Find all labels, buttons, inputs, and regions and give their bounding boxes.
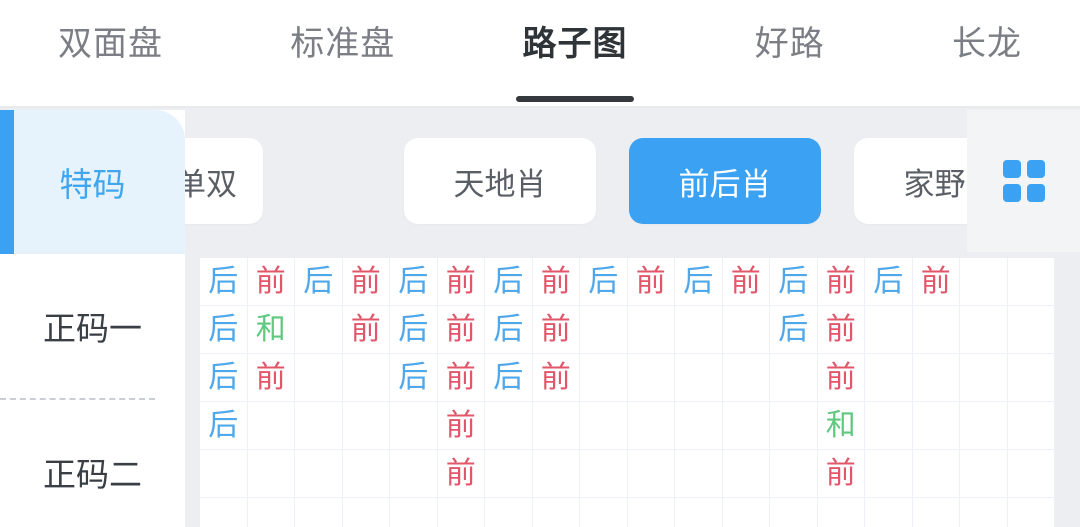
roadmap-cell-empty bbox=[343, 402, 391, 450]
roadmap-cell-empty bbox=[200, 498, 248, 527]
roadmap-cell-qian: 前 bbox=[533, 306, 581, 354]
roadmap-cell-empty bbox=[343, 498, 391, 527]
roadmap-screen: 双面盘 标准盘 路子图 好路 长龙 单双 天地肖 bbox=[0, 0, 1080, 527]
roadmap-cell-empty bbox=[1008, 498, 1056, 527]
roadmap-cell-empty bbox=[1008, 354, 1056, 402]
sidebar-item-label: 正码一 bbox=[43, 302, 142, 350]
roadmap-cell-empty bbox=[343, 450, 391, 498]
roadmap-cell-empty bbox=[770, 450, 818, 498]
roadmap-cell-empty bbox=[865, 354, 913, 402]
roadmap-row: 后前后前后前前 bbox=[200, 354, 1055, 402]
grid-square bbox=[1003, 160, 1021, 178]
sidebar-item-tema[interactable]: 特码 bbox=[0, 110, 185, 254]
roadmap-cell-empty bbox=[960, 402, 1008, 450]
roadmap-cell-empty bbox=[770, 402, 818, 450]
roadmap-cell-qian: 前 bbox=[913, 258, 961, 306]
roadmap-cell-hou: 后 bbox=[200, 306, 248, 354]
roadmap-cell-empty bbox=[723, 402, 771, 450]
roadmap-cell-empty bbox=[295, 354, 343, 402]
roadmap-row bbox=[200, 498, 1055, 527]
roadmap-cell-empty bbox=[865, 306, 913, 354]
roadmap-cell-empty bbox=[533, 498, 581, 527]
tab-luzitu[interactable]: 路子图 bbox=[523, 0, 628, 106]
roadmap-cell-qian: 前 bbox=[438, 354, 486, 402]
grid-square bbox=[1027, 184, 1045, 202]
roadmap-cell-empty bbox=[580, 354, 628, 402]
roadmap-cell-empty bbox=[628, 450, 676, 498]
roadmap-cell-qian: 前 bbox=[628, 258, 676, 306]
roadmap-cell-empty bbox=[913, 354, 961, 402]
grid-view-toggle-button[interactable] bbox=[967, 110, 1080, 252]
roadmap-cell-qian: 前 bbox=[248, 258, 296, 306]
roadmap-cell-empty bbox=[770, 498, 818, 527]
roadmap-cell-empty bbox=[818, 498, 866, 527]
filter-chip-label: 天地肖 bbox=[454, 159, 547, 204]
roadmap-cell-empty bbox=[960, 306, 1008, 354]
roadmap-cell-empty bbox=[390, 402, 438, 450]
roadmap-cell-qian: 前 bbox=[818, 354, 866, 402]
roadmap-cell-empty bbox=[485, 498, 533, 527]
tab-label: 长龙 bbox=[952, 22, 1022, 66]
roadmap-cell-qian: 前 bbox=[438, 450, 486, 498]
tab-underline bbox=[516, 96, 634, 102]
roadmap-cell-empty bbox=[628, 498, 676, 527]
roadmap-cell-hou: 后 bbox=[770, 258, 818, 306]
roadmap-cell-hou: 后 bbox=[865, 258, 913, 306]
roadmap-cell-empty bbox=[628, 402, 676, 450]
roadmap-cell-empty bbox=[1008, 258, 1056, 306]
roadmap-cell-empty bbox=[295, 402, 343, 450]
roadmap-cell-hou: 后 bbox=[580, 258, 628, 306]
roadmap-cell-empty bbox=[723, 306, 771, 354]
roadmap-cell-qian: 前 bbox=[343, 258, 391, 306]
sidebar-item-label: 特码 bbox=[60, 158, 126, 206]
roadmap-cell-qian: 前 bbox=[438, 258, 486, 306]
roadmap-cell-empty bbox=[485, 450, 533, 498]
roadmap-cell-empty bbox=[580, 402, 628, 450]
roadmap-row: 后前和 bbox=[200, 402, 1055, 450]
roadmap-cell-empty bbox=[390, 498, 438, 527]
roadmap-cell-empty bbox=[960, 354, 1008, 402]
roadmap-cell-hou: 后 bbox=[295, 258, 343, 306]
roadmap-cell-empty bbox=[533, 450, 581, 498]
roadmap-cell-empty bbox=[770, 354, 818, 402]
roadmap-cell-empty bbox=[865, 402, 913, 450]
filter-chip-qianhouxiao[interactable]: 前后肖 bbox=[629, 138, 821, 224]
roadmap-row: 后前后前后前后前后前后前后前后前 bbox=[200, 258, 1055, 306]
roadmap-cell-hou: 后 bbox=[390, 354, 438, 402]
roadmap-cell-qian: 前 bbox=[533, 258, 581, 306]
roadmap-cell-hou: 后 bbox=[770, 306, 818, 354]
roadmap-cell-empty bbox=[865, 450, 913, 498]
sidebar-item-zhengma-er[interactable]: 正码二 bbox=[0, 400, 185, 527]
roadmap-cell-empty bbox=[723, 450, 771, 498]
roadmap-cell-qian: 前 bbox=[438, 402, 486, 450]
grid-square bbox=[1027, 160, 1045, 178]
roadmap-cell-qian: 前 bbox=[818, 258, 866, 306]
roadmap-cell-empty bbox=[960, 498, 1008, 527]
roadmap-cell-hou: 后 bbox=[390, 258, 438, 306]
roadmap-cell-qian: 前 bbox=[723, 258, 771, 306]
roadmap-cell-hou: 后 bbox=[200, 354, 248, 402]
roadmap-cell-qian: 前 bbox=[818, 450, 866, 498]
sidebar-item-label: 正码二 bbox=[43, 448, 142, 496]
roadmap-cell-hou: 后 bbox=[200, 402, 248, 450]
roadmap-cell-empty bbox=[960, 258, 1008, 306]
roadmap-cell-qian: 前 bbox=[248, 354, 296, 402]
roadmap-cell-empty bbox=[438, 498, 486, 527]
roadmap-cell-empty bbox=[675, 354, 723, 402]
roadmap-cell-empty bbox=[580, 450, 628, 498]
roadmap-cell-empty bbox=[248, 450, 296, 498]
roadmap-cell-empty bbox=[913, 450, 961, 498]
roadmap-cell-empty bbox=[675, 498, 723, 527]
tab-label: 路子图 bbox=[523, 22, 628, 66]
tab-biaozhunpan[interactable]: 标准盘 bbox=[290, 0, 395, 106]
roadmap-cell-empty bbox=[723, 354, 771, 402]
roadmap-cell-empty bbox=[580, 306, 628, 354]
roadmap-cell-empty bbox=[200, 450, 248, 498]
roadmap-cell-empty bbox=[485, 402, 533, 450]
grid-square bbox=[1003, 184, 1021, 202]
roadmap-cell-empty bbox=[913, 402, 961, 450]
roadmap-cell-empty bbox=[913, 498, 961, 527]
roadmap-cell-he: 和 bbox=[248, 306, 296, 354]
roadmap-row: 前前 bbox=[200, 450, 1055, 498]
tab-haolu[interactable]: 好路 bbox=[755, 0, 825, 106]
roadmap-cell-empty bbox=[723, 498, 771, 527]
roadmap-cell-he: 和 bbox=[818, 402, 866, 450]
roadmap-cell-empty bbox=[533, 402, 581, 450]
top-tab-bar: 双面盘 标准盘 路子图 好路 长龙 bbox=[0, 0, 1080, 108]
roadmap-cell-qian: 前 bbox=[438, 306, 486, 354]
roadmap-cell-qian: 前 bbox=[818, 306, 866, 354]
filter-chip-label: 前后肖 bbox=[679, 159, 772, 204]
roadmap-cell-empty bbox=[675, 450, 723, 498]
roadmap-cell-qian: 前 bbox=[533, 354, 581, 402]
roadmap-grid[interactable]: 后前后前后前后前后前后前后前后前后和前后前后前后前后前后前后前前后前和前前 bbox=[200, 258, 1055, 527]
filter-chip-list: 单双 天地肖 前后肖 家野肖 bbox=[185, 110, 1046, 252]
roadmap-cell-empty bbox=[295, 450, 343, 498]
roadmap-cell-empty bbox=[248, 498, 296, 527]
tab-shuangmianpan[interactable]: 双面盘 bbox=[58, 0, 163, 106]
roadmap-cell-empty bbox=[675, 306, 723, 354]
tab-label: 好路 bbox=[755, 22, 825, 66]
tab-label: 标准盘 bbox=[290, 22, 395, 66]
roadmap-cell-empty bbox=[628, 354, 676, 402]
grid-2x2-icon bbox=[1003, 160, 1045, 202]
roadmap-cell-empty bbox=[295, 306, 343, 354]
sidebar-item-zhengma-yi[interactable]: 正码一 bbox=[0, 254, 185, 398]
roadmap-cell-qian: 前 bbox=[343, 306, 391, 354]
roadmap-cell-empty bbox=[628, 306, 676, 354]
roadmap-row: 后和前后前后前后前 bbox=[200, 306, 1055, 354]
roadmap-cell-empty bbox=[295, 498, 343, 527]
roadmap-cell-empty bbox=[248, 402, 296, 450]
category-sidebar: 特码 正码一 正码二 bbox=[0, 110, 185, 527]
roadmap-cell-empty bbox=[1008, 306, 1056, 354]
roadmap-cell-empty bbox=[913, 306, 961, 354]
roadmap-cell-empty bbox=[675, 402, 723, 450]
roadmap-cell-empty bbox=[865, 498, 913, 527]
roadmap-cell-empty bbox=[1008, 450, 1056, 498]
tab-label: 双面盘 bbox=[58, 22, 163, 66]
roadmap-cell-hou: 后 bbox=[200, 258, 248, 306]
roadmap-cell-hou: 后 bbox=[485, 306, 533, 354]
roadmap-cell-empty bbox=[580, 498, 628, 527]
roadmap-cell-hou: 后 bbox=[485, 354, 533, 402]
roadmap-cell-empty bbox=[343, 354, 391, 402]
roadmap-cell-empty bbox=[1008, 402, 1056, 450]
roadmap-cell-empty bbox=[960, 450, 1008, 498]
filter-chip-tiandixiao[interactable]: 天地肖 bbox=[404, 138, 596, 224]
roadmap-cell-hou: 后 bbox=[485, 258, 533, 306]
roadmap-cell-hou: 后 bbox=[390, 306, 438, 354]
roadmap-cell-hou: 后 bbox=[675, 258, 723, 306]
tab-changlong[interactable]: 长龙 bbox=[952, 0, 1022, 106]
roadmap-cell-empty bbox=[390, 450, 438, 498]
